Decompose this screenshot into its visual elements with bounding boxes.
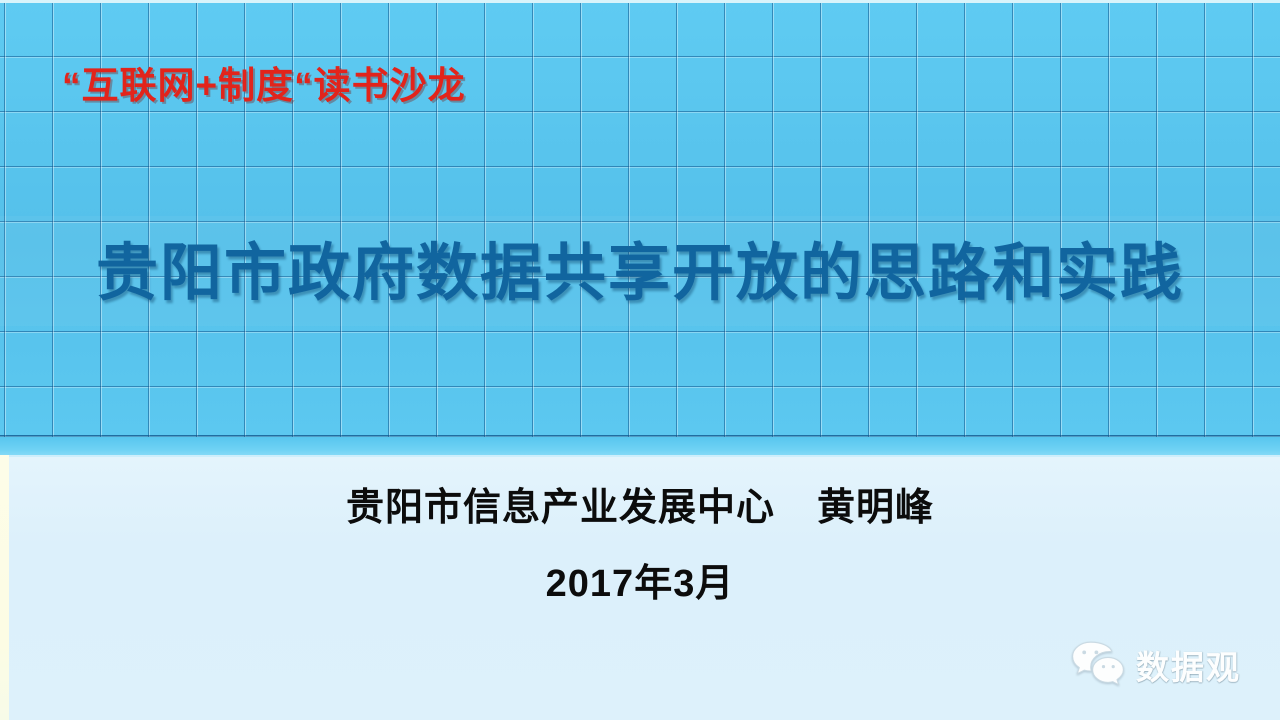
wechat-icon <box>1070 640 1126 691</box>
wechat-icon-glyph <box>1070 640 1126 686</box>
slide-title: 贵阳市政府数据共享开放的思路和实践 <box>0 222 1280 312</box>
watermark-label: 数据观 <box>1136 641 1241 689</box>
presenter-organization: 贵阳市信息产业发展中心 <box>346 487 775 529</box>
presenter-line: 贵阳市信息产业发展中心黄明峰 <box>0 476 1280 531</box>
presentation-slide: “互联网+制度“读书沙龙 贵阳市政府数据共享开放的思路和实践 贵阳市信息产业发展… <box>0 0 1280 720</box>
lower-panel-top-rule <box>0 455 1280 457</box>
watermark: 数据观 <box>1070 636 1270 694</box>
presentation-date: 2017年3月 <box>0 552 1280 607</box>
slide-subtitle: “互联网+制度“读书沙龙 <box>62 55 466 109</box>
presenter-name: 黄明峰 <box>817 487 934 529</box>
